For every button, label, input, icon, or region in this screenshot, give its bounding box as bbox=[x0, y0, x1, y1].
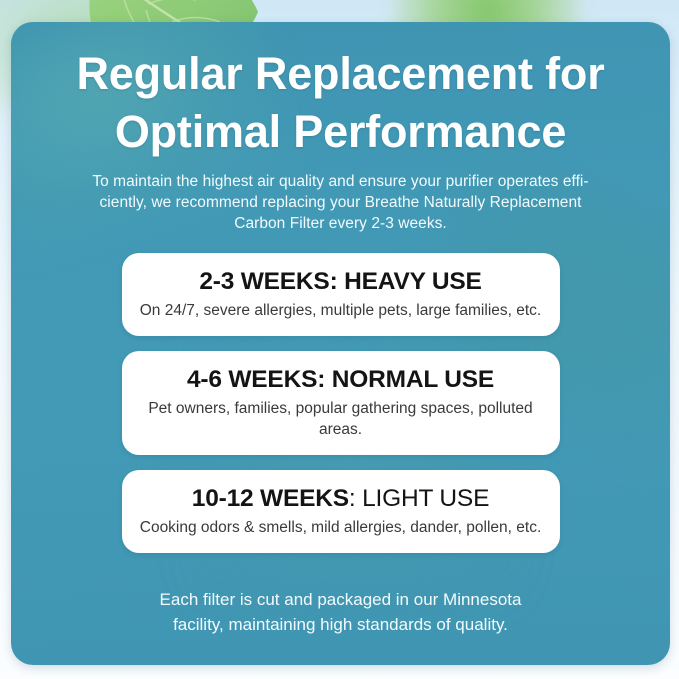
usage-card-list: 2-3 WEEKS: HEAVY USE On 24/7, severe all… bbox=[122, 253, 560, 553]
title-line-1: Regular Replacement for bbox=[76, 48, 604, 99]
footer-note: Each filter is cut and packaged in our M… bbox=[71, 587, 611, 637]
subtitle: To maintain the highest air quality and … bbox=[65, 171, 617, 234]
usage-card-body-line-2: pollen, etc. bbox=[466, 519, 541, 536]
usage-card-body: On 24/7, severe allergies, multiple pets… bbox=[140, 300, 542, 321]
usage-card-body-line-1: On 24/7, severe allergies, multiple pets… bbox=[140, 302, 451, 319]
usage-card-heading-light: : LIGHT USE bbox=[349, 485, 489, 512]
usage-card-body: Pet owners, families, popular gathering … bbox=[140, 398, 542, 440]
page-title: Regular Replacement for Optimal Performa… bbox=[31, 22, 650, 161]
usage-card-heavy: 2-3 WEEKS: HEAVY USE On 24/7, severe all… bbox=[122, 253, 560, 336]
usage-card-heading-bold: 10-12 WEEKS bbox=[192, 485, 349, 512]
usage-card-heading: 4-6 WEEKS: NORMAL USE bbox=[140, 364, 542, 395]
usage-card-body-line-2: families, etc. bbox=[455, 302, 541, 319]
subtitle-line-3: Carbon Filter every 2-3 weeks. bbox=[65, 213, 617, 234]
usage-card-heading-bold: 2-3 WEEKS: HEAVY USE bbox=[199, 268, 481, 295]
teal-panel: Regular Replacement for Optimal Performa… bbox=[11, 22, 670, 665]
footer-line-2: facility, maintaining high standards of … bbox=[71, 612, 611, 637]
usage-card-light: 10-12 WEEKS: LIGHT USE Cooking odors & s… bbox=[122, 470, 560, 553]
usage-card-heading-bold: 4-6 WEEKS: NORMAL USE bbox=[187, 366, 494, 393]
footer-line-1: Each filter is cut and packaged in our M… bbox=[71, 587, 611, 612]
usage-card-heading: 10-12 WEEKS: LIGHT USE bbox=[140, 483, 542, 514]
infographic-page: Regular Replacement for Optimal Performa… bbox=[0, 0, 679, 679]
usage-card-body-line-1: Cooking odors & smells, mild allergies, … bbox=[140, 519, 462, 536]
subtitle-line-1: To maintain the highest air quality and … bbox=[65, 171, 617, 192]
subtitle-line-2: ciently, we recommend replacing your Bre… bbox=[65, 192, 617, 213]
usage-card-body-line-1: Pet owners, families, popular gathering … bbox=[148, 400, 474, 417]
usage-card-heading: 2-3 WEEKS: HEAVY USE bbox=[140, 266, 542, 297]
usage-card-normal: 4-6 WEEKS: NORMAL USE Pet owners, famili… bbox=[122, 351, 560, 455]
title-line-2: Optimal Performance bbox=[31, 103, 650, 161]
usage-card-body: Cooking odors & smells, mild allergies, … bbox=[140, 517, 542, 538]
